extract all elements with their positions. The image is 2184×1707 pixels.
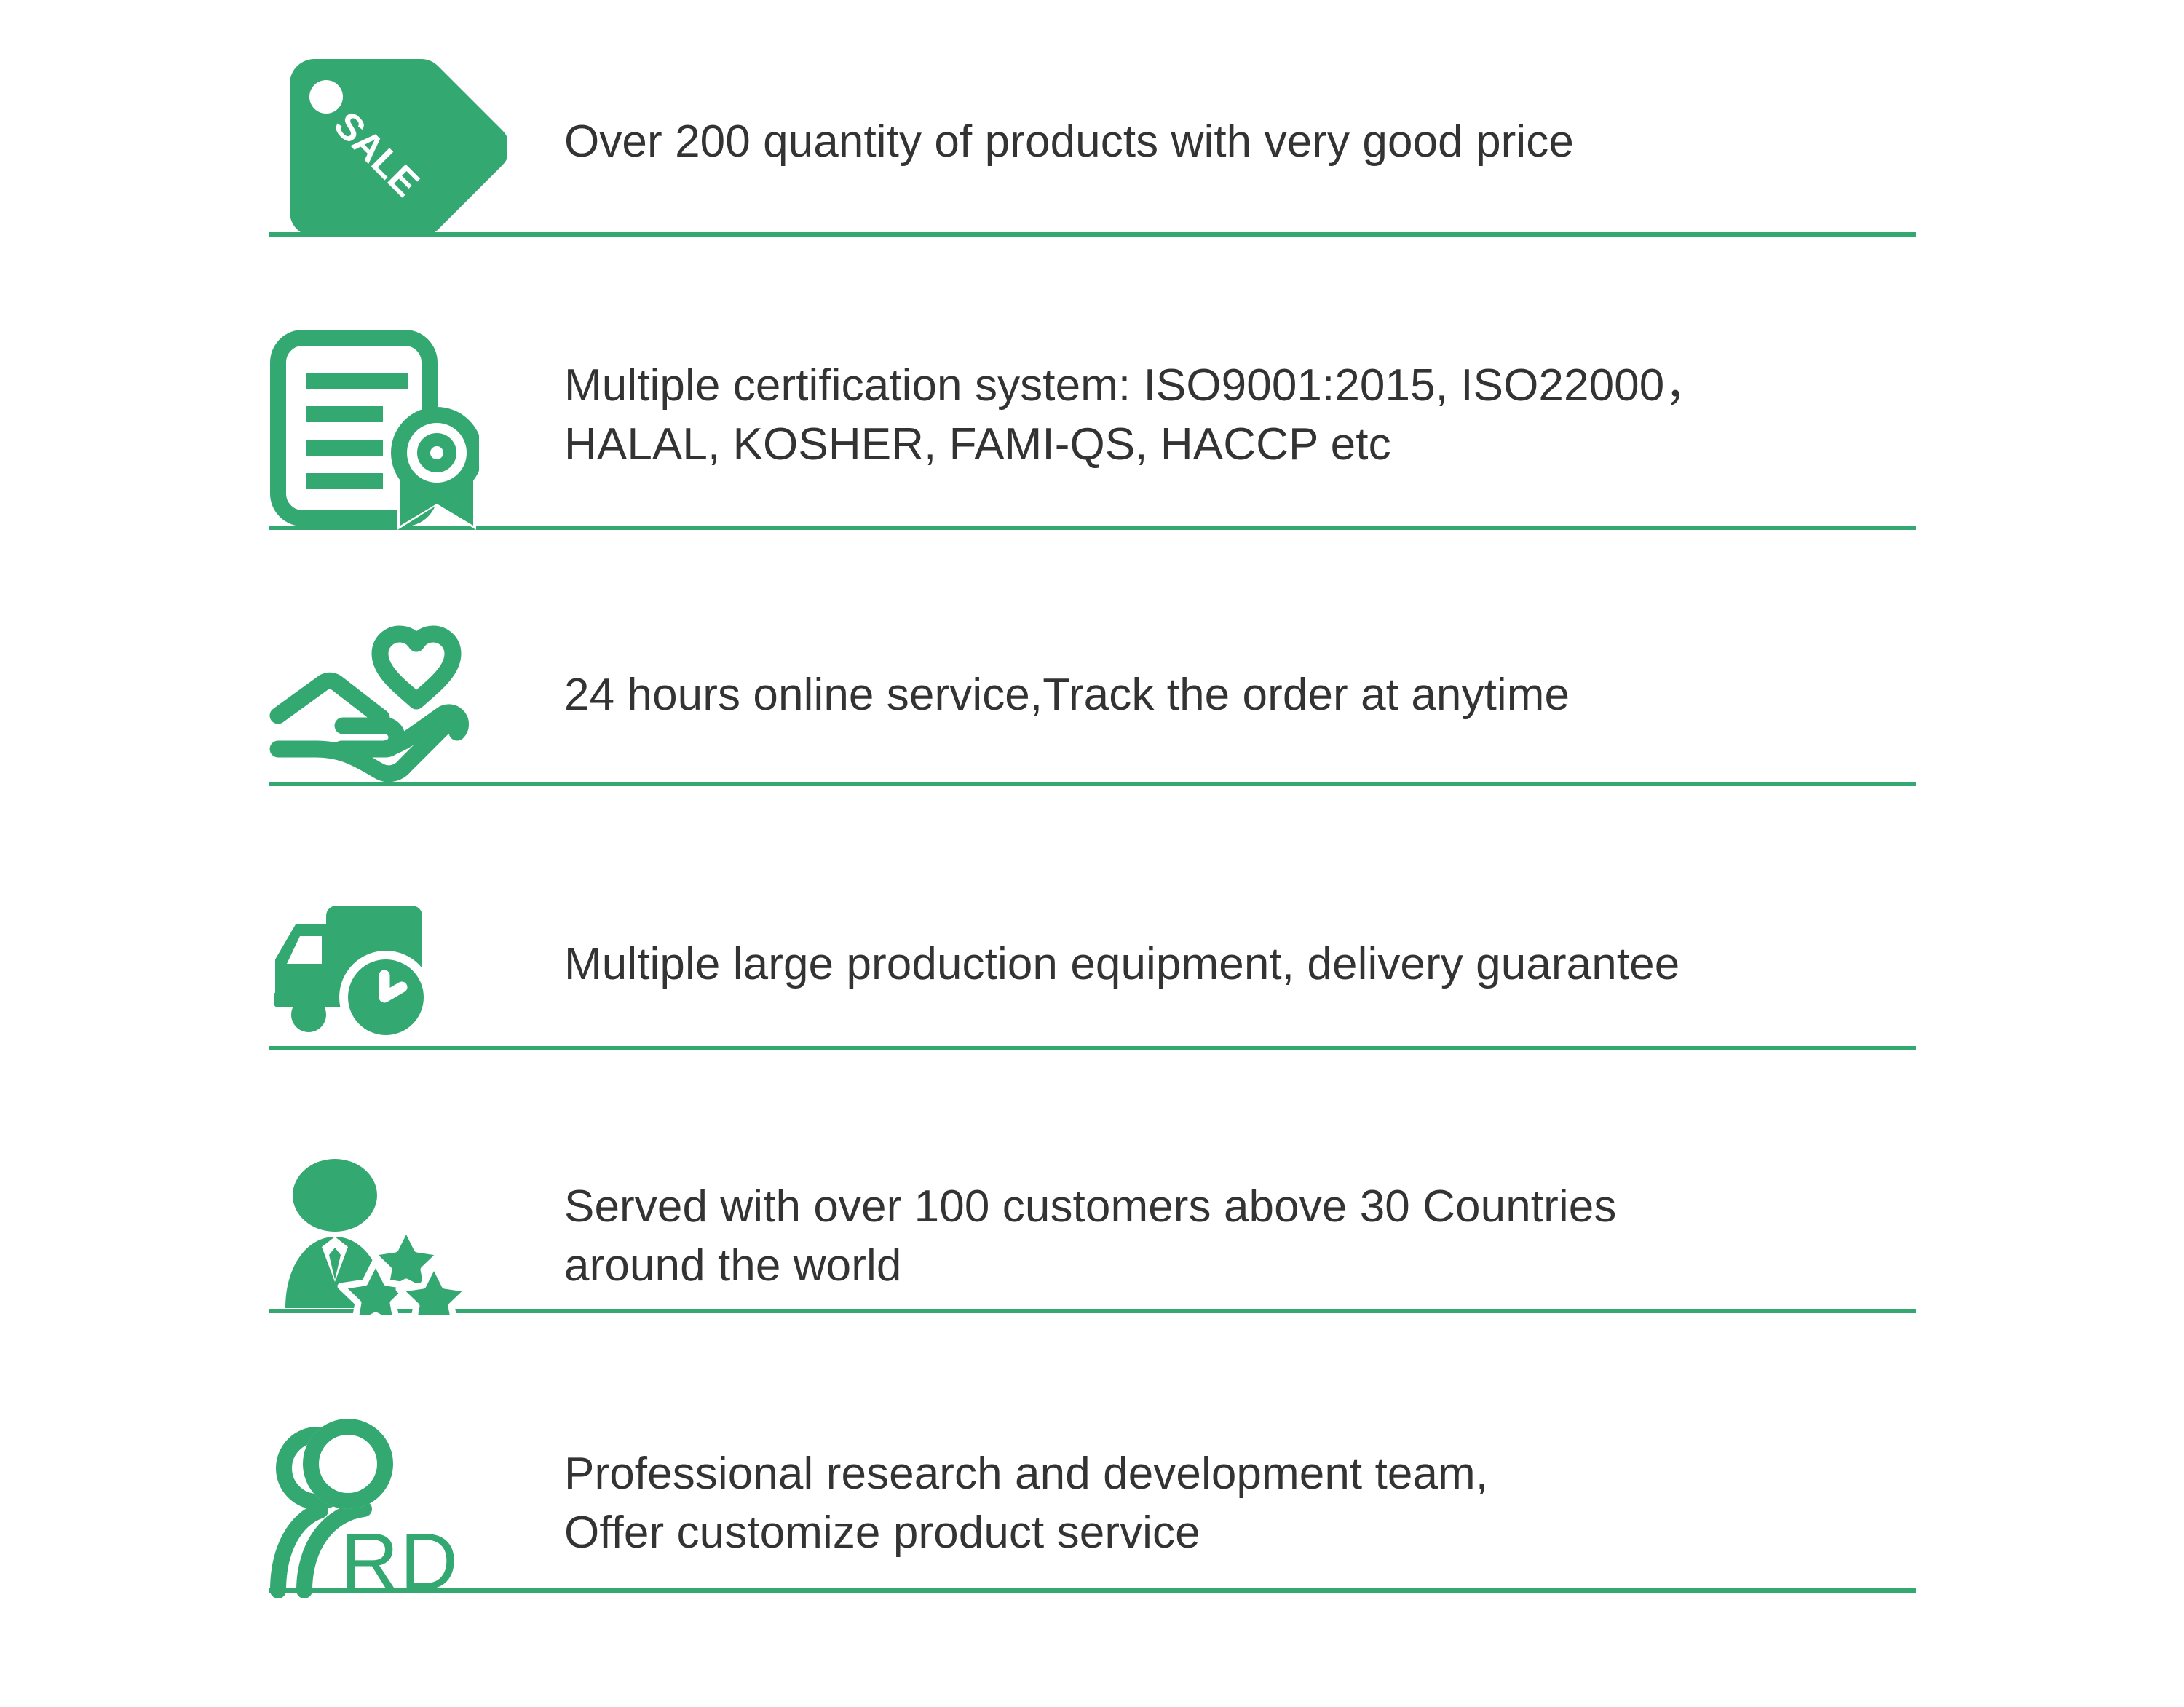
feature-text-line: Multiple certification system: ISO9001:2… xyxy=(564,357,1947,416)
feature-text-line: Offer customize product service xyxy=(564,1504,1947,1563)
research-development-label: RD xyxy=(341,1517,459,1598)
feature-text-line: Multiple large production equipment, del… xyxy=(564,935,1947,994)
feature-text-line: Served with over 100 customers above 30 … xyxy=(564,1178,1947,1237)
row-divider xyxy=(269,232,1916,237)
feature-text-line: around the world xyxy=(564,1237,1947,1296)
customer-stars-icon xyxy=(268,1159,486,1315)
feature-text-line: 24 hours online service,Track the order … xyxy=(564,666,1947,725)
row-divider xyxy=(269,1309,1916,1313)
feature-text: Over 200 quantity of products with very … xyxy=(564,113,1947,172)
feature-text: Multiple certification system: ISO9001:2… xyxy=(564,357,1947,474)
feature-text-line: HALAL, KOSHER, FAMI-QS, HACCP etc xyxy=(564,416,1947,475)
feature-text: 24 hours online service,Track the order … xyxy=(564,666,1947,725)
feature-text: Served with over 100 customers above 30 … xyxy=(564,1178,1947,1295)
row-divider xyxy=(269,526,1916,530)
features-list-page: SALE Over 200 quantity of products with … xyxy=(0,0,2184,1707)
certificate-icon xyxy=(268,328,479,531)
delivery-truck-clock-icon xyxy=(264,901,475,1058)
feature-text: Professional research and development te… xyxy=(564,1445,1947,1562)
research-development-icon: RD xyxy=(262,1416,480,1598)
row-divider xyxy=(269,1046,1916,1050)
feature-text-line: Professional research and development te… xyxy=(564,1445,1947,1504)
row-divider xyxy=(269,1588,1916,1593)
hand-heart-icon xyxy=(261,622,479,797)
sale-tag-icon: SALE xyxy=(259,55,507,237)
feature-text-line: Over 200 quantity of products with very … xyxy=(564,113,1947,172)
feature-text: Multiple large production equipment, del… xyxy=(564,935,1947,994)
row-divider xyxy=(269,782,1916,786)
